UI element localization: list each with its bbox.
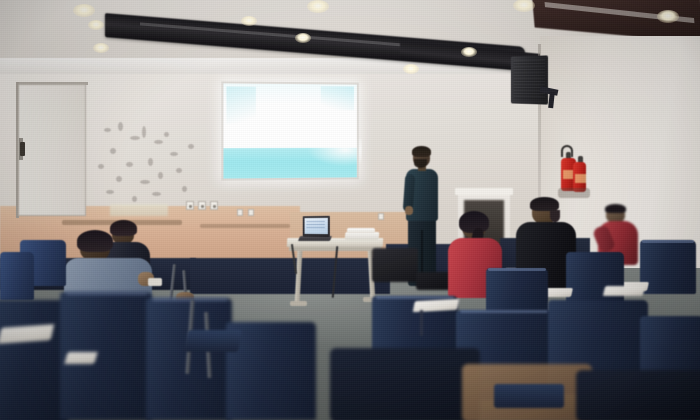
extinguisher-label bbox=[575, 174, 586, 183]
floor-equipment-case bbox=[372, 248, 418, 282]
wall-outlet-icon bbox=[210, 201, 218, 210]
wall-niche-cap bbox=[455, 188, 513, 195]
wall-outlet-icon bbox=[186, 201, 194, 210]
laptop-screen-content bbox=[306, 221, 324, 229]
wall-outlet-icon bbox=[198, 201, 206, 210]
auditorium-chair[interactable] bbox=[566, 252, 624, 304]
extinguisher-shadow bbox=[558, 188, 590, 198]
ceiling-downlight-icon bbox=[73, 4, 95, 17]
presenter-beard bbox=[414, 159, 427, 168]
door-handle-icon[interactable] bbox=[20, 142, 25, 156]
ceiling-downlight-icon bbox=[657, 10, 679, 23]
chair-rim bbox=[460, 310, 548, 313]
laptop-icon[interactable] bbox=[303, 216, 330, 237]
auditorium-photo bbox=[0, 0, 700, 420]
projection-screen bbox=[224, 84, 358, 178]
audience-jaw-shadow bbox=[550, 210, 560, 222]
auditorium-chair[interactable] bbox=[0, 252, 34, 300]
table-foot bbox=[290, 301, 307, 306]
wall-wainscot bbox=[190, 258, 390, 294]
auditorium-chair[interactable] bbox=[330, 348, 480, 420]
ceiling-downlight-icon bbox=[241, 16, 257, 26]
wall-smudge-band bbox=[200, 224, 290, 228]
presenter-hand bbox=[405, 206, 413, 215]
ceiling-downlight-icon bbox=[461, 47, 477, 57]
wall-outlet-icon bbox=[237, 209, 243, 216]
ceiling-downlight-icon bbox=[295, 33, 311, 43]
wall-panel bbox=[110, 204, 168, 216]
auditorium-chair[interactable] bbox=[640, 240, 696, 294]
audience-hair bbox=[605, 204, 626, 213]
audience-hair bbox=[77, 230, 113, 252]
projection-screen-border bbox=[221, 81, 358, 180]
laptop-screen bbox=[305, 218, 328, 234]
speaker-grille bbox=[514, 60, 546, 100]
chair-rim bbox=[488, 268, 546, 271]
auditorium-chair[interactable] bbox=[576, 370, 700, 420]
audience-hair bbox=[530, 197, 559, 211]
auditorium-chair[interactable] bbox=[0, 300, 68, 420]
chair-rim bbox=[376, 296, 454, 299]
ceiling-downlight-icon bbox=[88, 20, 104, 30]
presenter-hair bbox=[412, 146, 431, 157]
wall-outlet-icon bbox=[378, 213, 384, 220]
ceiling-downlight-icon bbox=[403, 64, 419, 74]
interior-door[interactable] bbox=[18, 84, 86, 216]
wall-scuff-marks bbox=[96, 118, 206, 214]
ceiling-downlight-icon bbox=[93, 43, 109, 53]
wall-speaker-icon bbox=[511, 55, 548, 104]
chair-rim bbox=[642, 240, 694, 243]
audience-paper bbox=[148, 278, 162, 286]
projector-device-top bbox=[347, 228, 375, 233]
chair-tablet-arm[interactable] bbox=[603, 286, 645, 296]
ceiling-downlight-icon bbox=[307, 0, 329, 13]
wall-outlet-icon bbox=[248, 209, 254, 216]
chair-tablet-arm[interactable] bbox=[64, 352, 97, 364]
chair-seat[interactable] bbox=[184, 330, 242, 352]
chair-rim bbox=[66, 292, 148, 295]
chair-arm-post bbox=[420, 310, 423, 336]
projector-device bbox=[345, 232, 380, 240]
chair-seat[interactable] bbox=[494, 384, 564, 408]
